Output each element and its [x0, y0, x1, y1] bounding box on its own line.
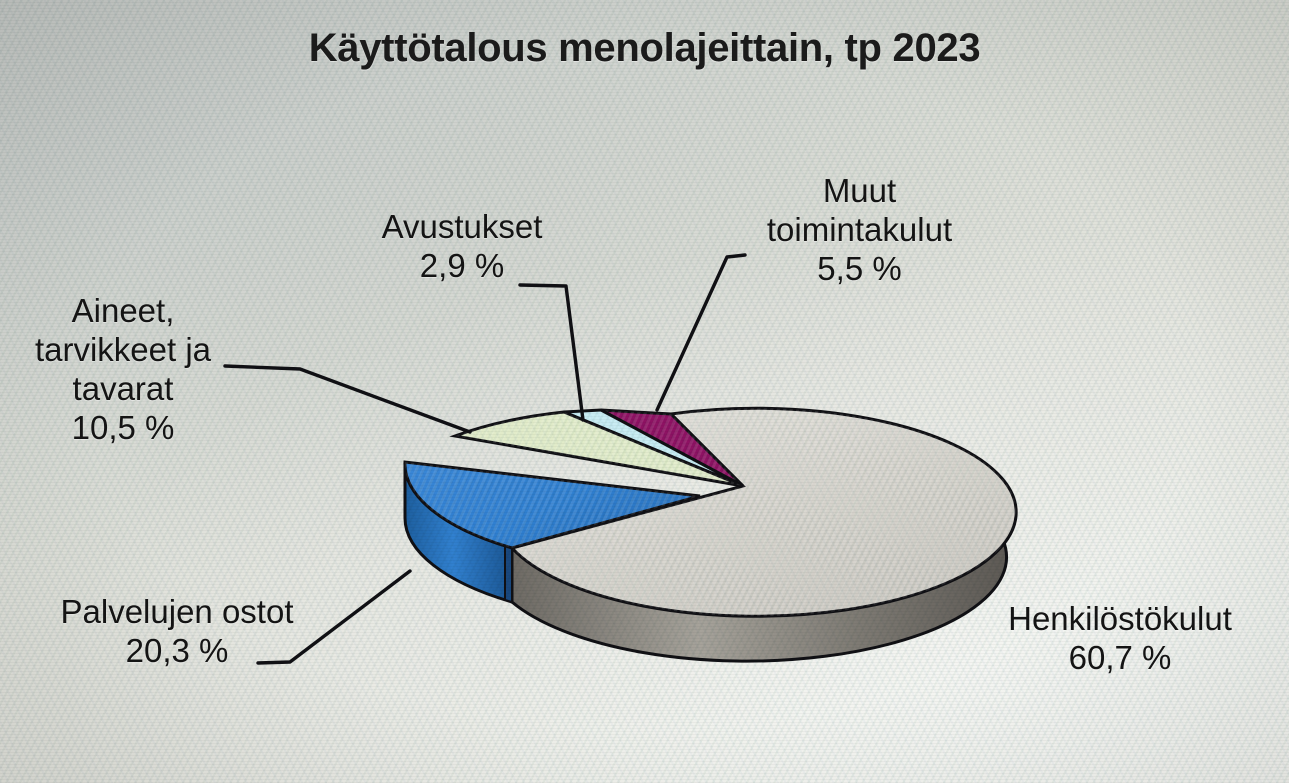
- leader-line-avustukset: [520, 285, 583, 420]
- slice-value-palvelujen: 20,3 %: [22, 632, 332, 671]
- slice-label-aineet-line1: Aineet,: [72, 292, 175, 329]
- slice-label-muut-line2: toimintakulut: [767, 211, 952, 248]
- slice-value-aineet: 10,5 %: [8, 409, 238, 448]
- slice-value-muut: 5,5 %: [722, 250, 997, 289]
- chart-title: Käyttötalous menolajeittain, tp 2023: [0, 26, 1289, 71]
- slice-label-muut-line1: Muut: [823, 172, 896, 209]
- slice-label-palvelujen-line1: Palvelujen ostot: [61, 593, 294, 630]
- slice-label-aineet-tarvikkeet-tavarat: Aineet, tarvikkeet ja tavarat 10,5 %: [8, 292, 238, 448]
- slice-label-muut-toimintakulut: Muut toimintakulut 5,5 %: [722, 172, 997, 289]
- slice-label-henkilosto-line1: Henkilöstökulut: [1008, 600, 1232, 637]
- slice-label-avustukset: Avustukset 2,9 %: [352, 208, 572, 286]
- slice-value-henkilosto: 60,7 %: [965, 639, 1275, 678]
- slice-cut-face-palvelujen-ostot: [505, 546, 512, 602]
- slice-label-avustukset-line1: Avustukset: [382, 208, 543, 245]
- slice-label-aineet-line2: tarvikkeet ja: [35, 331, 211, 368]
- slice-value-avustukset: 2,9 %: [352, 247, 572, 286]
- slice-label-henkilostokulut: Henkilöstökulut 60,7 %: [965, 600, 1275, 678]
- leader-line-aineet: [225, 366, 470, 432]
- slice-label-aineet-line3: tavarat: [73, 370, 174, 407]
- slice-label-palvelujen-ostot: Palvelujen ostot 20,3 %: [22, 593, 332, 671]
- chart-screenshot: Käyttötalous menolajeittain, tp 2023 Ain…: [0, 0, 1289, 783]
